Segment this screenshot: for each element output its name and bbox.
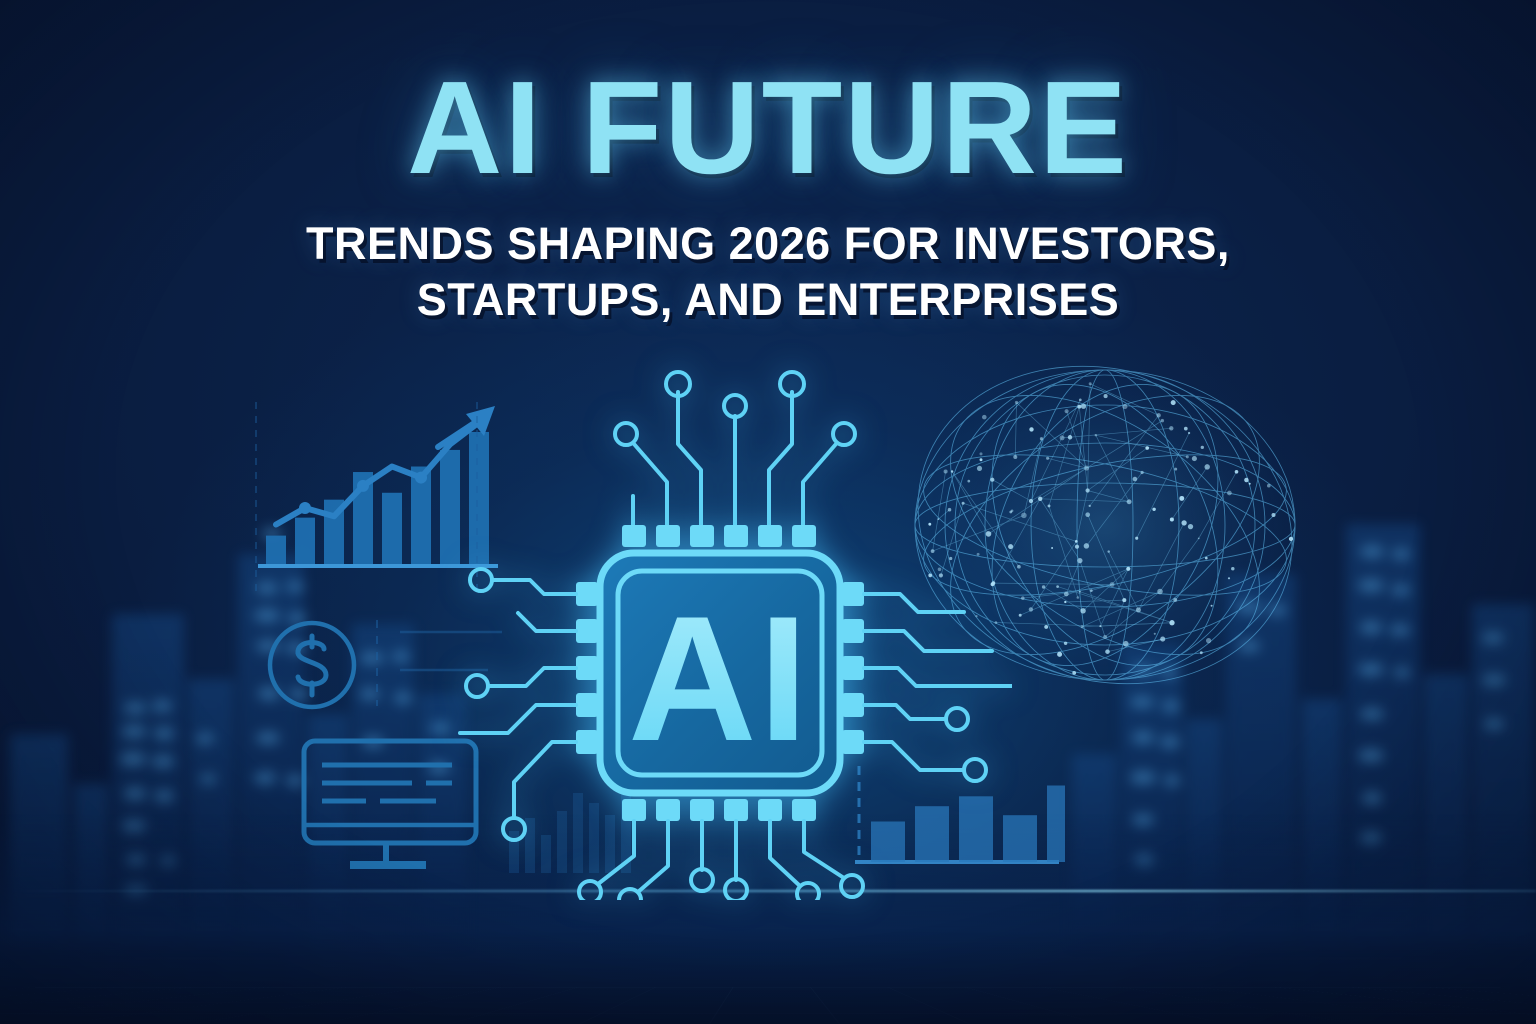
mesh-node <box>1169 426 1173 430</box>
mesh-node <box>1140 471 1143 474</box>
mesh-node <box>1077 596 1080 599</box>
mesh-node <box>1171 400 1176 405</box>
mesh-node <box>1186 455 1189 458</box>
mesh-node <box>1040 437 1043 440</box>
mesh-node <box>1056 585 1059 588</box>
mesh-node <box>1079 591 1081 593</box>
mesh-node <box>1084 543 1089 548</box>
mesh-node <box>1205 557 1208 560</box>
mesh-node <box>1174 468 1177 471</box>
mesh-node <box>1017 565 1021 569</box>
mesh-node <box>1188 432 1190 434</box>
mesh-node <box>1068 435 1072 439</box>
dollar-coin-icon <box>264 617 360 713</box>
mesh-node <box>1200 651 1203 654</box>
mesh-node <box>1057 652 1062 657</box>
mesh-node <box>1048 504 1051 507</box>
mesh-node <box>1019 614 1022 617</box>
mesh-node <box>1244 478 1248 482</box>
mesh-node <box>1192 456 1197 461</box>
title-block: AI FUTURE TRENDS SHAPING 2026 FOR INVEST… <box>0 0 1536 329</box>
page-subtitle: TRENDS SHAPING 2026 FOR INVESTORS, START… <box>0 216 1536 329</box>
mesh-node <box>1201 446 1204 449</box>
mesh-node <box>1157 589 1163 595</box>
mesh-node <box>1080 608 1085 613</box>
mesh-node <box>1086 488 1090 492</box>
mesh-node <box>1084 466 1089 471</box>
mesh-node <box>1104 394 1108 398</box>
mesh-node <box>1081 404 1086 409</box>
mesh-node <box>1231 567 1234 570</box>
mesh-node <box>1152 508 1155 511</box>
mesh-node <box>1077 405 1081 409</box>
mesh-node <box>1127 499 1132 504</box>
mesh-node <box>1173 598 1177 602</box>
mesh-node <box>1079 399 1082 402</box>
mesh-node <box>1198 537 1200 539</box>
mesh-node <box>1021 513 1027 519</box>
mesh-node <box>1133 477 1138 482</box>
mesh-node <box>1135 537 1138 540</box>
mesh-node <box>1090 589 1093 592</box>
mesh-node <box>1081 625 1084 628</box>
mesh-node <box>1204 464 1209 469</box>
mesh-node <box>1044 625 1048 629</box>
mesh-node <box>1077 558 1082 563</box>
mesh-node <box>1211 605 1213 607</box>
mesh-node <box>1060 435 1065 440</box>
mesh-node <box>1136 607 1141 612</box>
mesh-node <box>1105 649 1110 654</box>
subtitle-line-1: TRENDS SHAPING 2026 FOR INVESTORS, <box>0 216 1536 272</box>
mesh-node <box>1156 413 1160 417</box>
mesh-node <box>1051 547 1053 549</box>
mesh-node <box>1181 520 1186 525</box>
mesh-node <box>1123 641 1129 647</box>
mesh-node <box>1075 540 1078 543</box>
mesh-node <box>1103 635 1107 639</box>
mesh-node <box>1289 537 1293 541</box>
mesh-node <box>1099 625 1101 627</box>
mesh-node <box>1126 567 1130 571</box>
mesh-node <box>1188 524 1193 529</box>
mesh-node <box>1064 592 1069 597</box>
mesh-node <box>1029 427 1033 431</box>
mesh-node <box>1015 401 1018 404</box>
mesh-node <box>1029 499 1033 503</box>
chip-label: AI <box>628 579 810 778</box>
mesh-node <box>1013 455 1017 459</box>
mesh-node <box>1179 496 1184 501</box>
mesh-node <box>1161 419 1165 423</box>
mesh-node <box>1075 545 1079 549</box>
mesh-node <box>1122 598 1126 602</box>
subtitle-line-2: STARTUPS, AND ENTERPRISES <box>0 272 1536 328</box>
mesh-node <box>1064 642 1067 645</box>
mesh-node <box>1110 582 1115 587</box>
mesh-node <box>1267 484 1271 488</box>
poster-canvas: AI <box>0 0 1536 1024</box>
mesh-node <box>1184 427 1188 431</box>
mesh-node <box>1160 637 1165 642</box>
mesh-node <box>1042 585 1045 588</box>
mesh-node <box>1170 517 1174 521</box>
mesh-node <box>1107 550 1109 552</box>
mesh-node <box>1206 638 1211 643</box>
mesh-node <box>1038 497 1042 501</box>
mesh-node <box>1228 577 1230 579</box>
mesh-node <box>1089 382 1092 385</box>
page-title: AI FUTURE <box>0 62 1536 194</box>
mesh-node <box>1227 491 1232 496</box>
mesh-node <box>1154 633 1156 635</box>
mesh-node <box>1046 457 1049 460</box>
mesh-node <box>1072 671 1076 675</box>
mesh-node <box>1249 483 1251 485</box>
ai-chip-icon: AI <box>452 370 1012 900</box>
ai-chip-graphic: AI <box>452 370 1012 900</box>
mesh-node <box>1122 404 1127 409</box>
mesh-node <box>1089 505 1091 507</box>
mesh-node <box>1169 620 1174 625</box>
mesh-node <box>1021 596 1025 600</box>
mesh-node <box>1065 409 1069 413</box>
mesh-node <box>1145 446 1149 450</box>
bar <box>1047 786 1065 863</box>
mesh-node <box>1064 601 1066 603</box>
mesh-node <box>1271 513 1275 517</box>
mesh-node <box>1085 512 1090 517</box>
mesh-node <box>1095 434 1097 436</box>
mesh-node <box>1235 470 1239 474</box>
mesh-node <box>1029 607 1033 611</box>
